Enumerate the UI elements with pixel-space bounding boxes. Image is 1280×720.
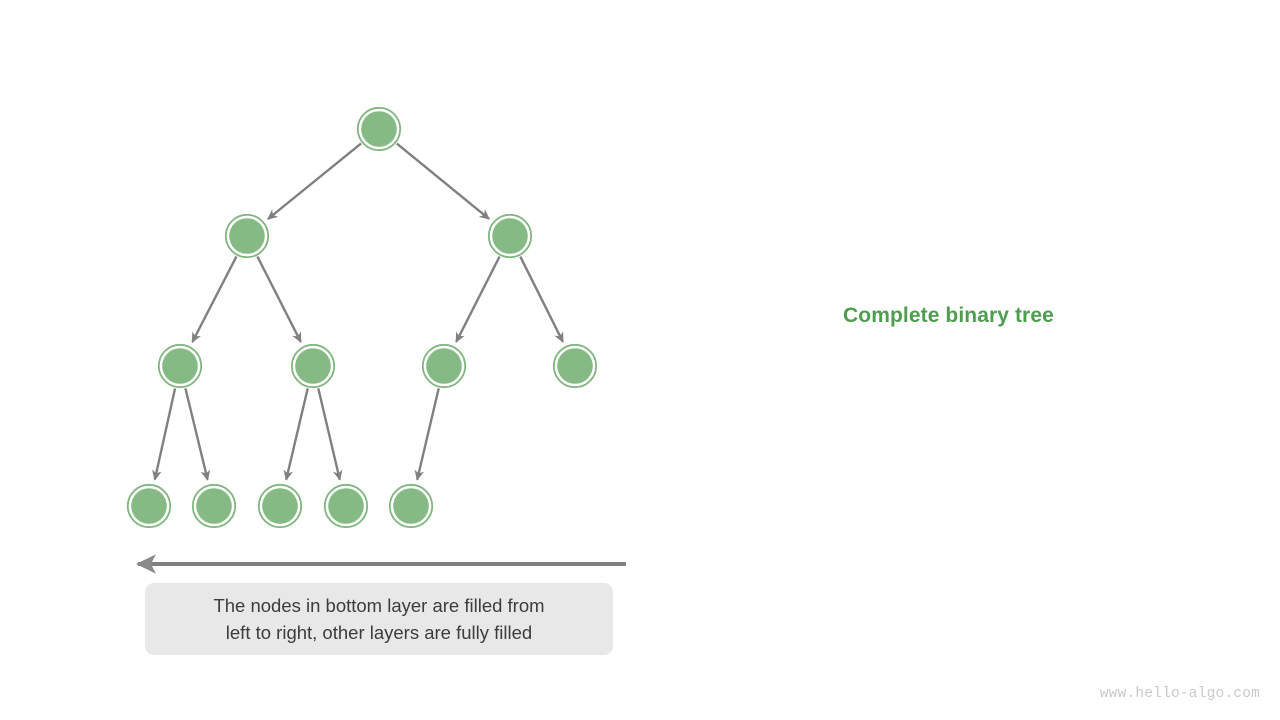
tree-edge [417,388,439,479]
node-circle [196,488,232,524]
tree-edge [397,144,489,219]
tree-edge [456,257,499,342]
tree-edge [268,143,361,219]
caption-line-2: left to right, other layers are fully fi… [226,622,532,643]
tree-node [159,345,201,387]
node-circle [131,488,167,524]
node-circle [295,348,331,384]
caption-line-1: The nodes in bottom layer are filled fro… [213,595,544,616]
node-circle [262,488,298,524]
tree-node [554,345,596,387]
watermark: www.hello-algo.com [1100,686,1260,702]
node-circle [426,348,462,384]
node-circle [361,111,397,147]
tree-node [259,485,301,527]
tree-edge [257,257,300,342]
tree-node [358,108,400,150]
tree-node [489,215,531,257]
tree-edge [318,388,340,479]
node-circle [229,218,265,254]
caption-box: The nodes in bottom layer are filled fro… [145,583,613,655]
tree-node [292,345,334,387]
node-circle [492,218,528,254]
tree-node [325,485,367,527]
tree-node [390,485,432,527]
node-circle [162,348,198,384]
tree-edge [286,388,308,479]
caption-text: The nodes in bottom layer are filled fro… [203,592,554,646]
node-circle [557,348,593,384]
tree-node [128,485,170,527]
tree-edge [185,388,207,479]
node-circle [328,488,364,524]
tree-edge [155,388,175,479]
page-title: Complete binary tree [843,304,1054,328]
figure-canvas: Complete binary tree The nodes in bottom… [0,0,1280,720]
node-layer [128,108,596,527]
tree-edge [520,257,563,342]
tree-node [423,345,465,387]
tree-node [193,485,235,527]
tree-edge [192,256,236,342]
node-circle [393,488,429,524]
edge-layer [155,143,563,479]
tree-node [226,215,268,257]
